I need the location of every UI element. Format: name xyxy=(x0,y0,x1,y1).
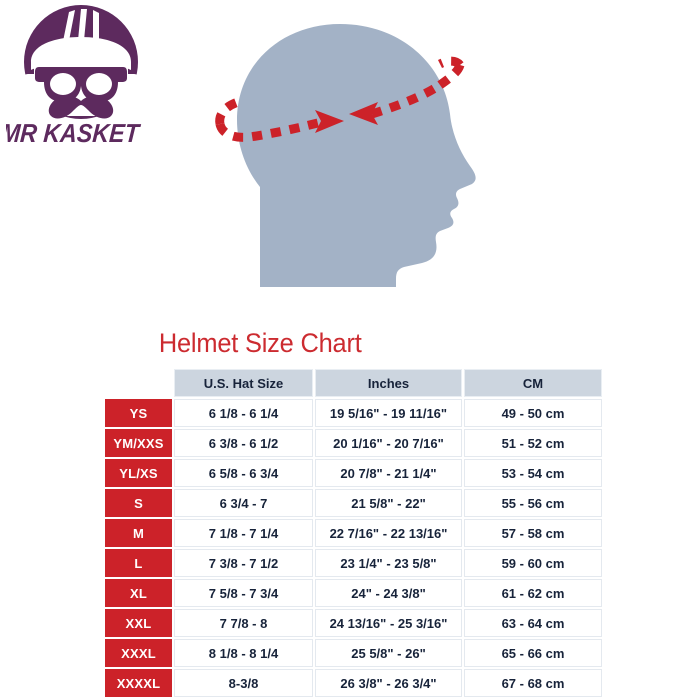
table-row: XXXL8 1/8 - 8 1/425 5/8" - 26"65 - 66 cm xyxy=(105,639,602,667)
size-label-cell: XXXL xyxy=(105,639,172,667)
table-row: M7 1/8 - 7 1/422 7/16" - 22 13/16"57 - 5… xyxy=(105,519,602,547)
size-label-cell: L xyxy=(105,549,172,577)
inches-cell: 23 1/4" - 23 5/8" xyxy=(315,549,462,577)
cm-cell: 61 - 62 cm xyxy=(464,579,602,607)
helmet-size-table: U.S. Hat Size Inches CM YS6 1/8 - 6 1/41… xyxy=(103,367,604,699)
inches-cell: 22 7/16" - 22 13/16" xyxy=(315,519,462,547)
inches-cell: 21 5/8" - 22" xyxy=(315,489,462,517)
table-row: XXL7 7/8 - 824 13/16" - 25 3/16"63 - 64 … xyxy=(105,609,602,637)
table-row: YM/XXS6 3/8 - 6 1/220 1/16" - 20 7/16"51… xyxy=(105,429,602,457)
hat-size-cell: 7 7/8 - 8 xyxy=(174,609,313,637)
table-row: XXXXL8-3/826 3/8" - 26 3/4"67 - 68 cm xyxy=(105,669,602,697)
cm-cell: 65 - 66 cm xyxy=(464,639,602,667)
inches-cell: 25 5/8" - 26" xyxy=(315,639,462,667)
cm-cell: 57 - 58 cm xyxy=(464,519,602,547)
hat-size-cell: 6 1/8 - 6 1/4 xyxy=(174,399,313,427)
size-label-cell: M xyxy=(105,519,172,547)
table-row: L7 3/8 - 7 1/223 1/4" - 23 5/8"59 - 60 c… xyxy=(105,549,602,577)
table-row: YS6 1/8 - 6 1/419 5/16" - 19 11/16"49 - … xyxy=(105,399,602,427)
page-title: Helmet Size Chart xyxy=(0,326,658,360)
size-label-cell: YL/XS xyxy=(105,459,172,487)
brand-wordmark: MR KASKET xyxy=(6,118,142,148)
table-row: S6 3/4 - 721 5/8" - 22"55 - 56 cm xyxy=(105,489,602,517)
size-label-cell: YM/XXS xyxy=(105,429,172,457)
cm-cell: 51 - 52 cm xyxy=(464,429,602,457)
cm-cell: 67 - 68 cm xyxy=(464,669,602,697)
inches-cell: 26 3/8" - 26 3/4" xyxy=(315,669,462,697)
hat-size-cell: 7 5/8 - 7 3/4 xyxy=(174,579,313,607)
head-profile-measuring-icon xyxy=(182,2,502,302)
size-label-cell: YS xyxy=(105,399,172,427)
cm-cell: 49 - 50 cm xyxy=(464,399,602,427)
cm-cell: 53 - 54 cm xyxy=(464,459,602,487)
brand-logo: MR KASKET xyxy=(6,4,176,154)
size-label-cell: XL xyxy=(105,579,172,607)
size-label-cell: XXXXL xyxy=(105,669,172,697)
table-header-row: U.S. Hat Size Inches CM xyxy=(105,369,602,397)
cm-cell: 59 - 60 cm xyxy=(464,549,602,577)
head-measuring-illustration xyxy=(182,2,502,302)
size-label-cell: S xyxy=(105,489,172,517)
hat-size-cell: 8-3/8 xyxy=(174,669,313,697)
helmet-goggles-mustache-icon: MR KASKET xyxy=(6,4,176,154)
table-corner-blank xyxy=(105,369,172,397)
inches-cell: 19 5/16" - 19 11/16" xyxy=(315,399,462,427)
inches-cell: 24 13/16" - 25 3/16" xyxy=(315,609,462,637)
table-row: YL/XS6 5/8 - 6 3/420 7/8" - 21 1/4"53 - … xyxy=(105,459,602,487)
brand-name-text: MR KASKET xyxy=(6,118,142,148)
hat-size-cell: 6 3/8 - 6 1/2 xyxy=(174,429,313,457)
helmet-size-chart-section: Helmet Size Chart U.S. Hat Size Inches C… xyxy=(0,326,700,699)
hat-size-cell: 8 1/8 - 8 1/4 xyxy=(174,639,313,667)
inches-cell: 20 1/16" - 20 7/16" xyxy=(315,429,462,457)
table-row: XL7 5/8 - 7 3/424" - 24 3/8"61 - 62 cm xyxy=(105,579,602,607)
cm-cell: 55 - 56 cm xyxy=(464,489,602,517)
cm-cell: 63 - 64 cm xyxy=(464,609,602,637)
inches-cell: 20 7/8" - 21 1/4" xyxy=(315,459,462,487)
hat-size-cell: 6 5/8 - 6 3/4 xyxy=(174,459,313,487)
inches-cell: 24" - 24 3/8" xyxy=(315,579,462,607)
hat-size-cell: 7 1/8 - 7 1/4 xyxy=(174,519,313,547)
column-header-cm: CM xyxy=(464,369,602,397)
column-header-hat-size: U.S. Hat Size xyxy=(174,369,313,397)
column-header-inches: Inches xyxy=(315,369,462,397)
size-label-cell: XXL xyxy=(105,609,172,637)
hat-size-cell: 7 3/8 - 7 1/2 xyxy=(174,549,313,577)
hat-size-cell: 6 3/4 - 7 xyxy=(174,489,313,517)
